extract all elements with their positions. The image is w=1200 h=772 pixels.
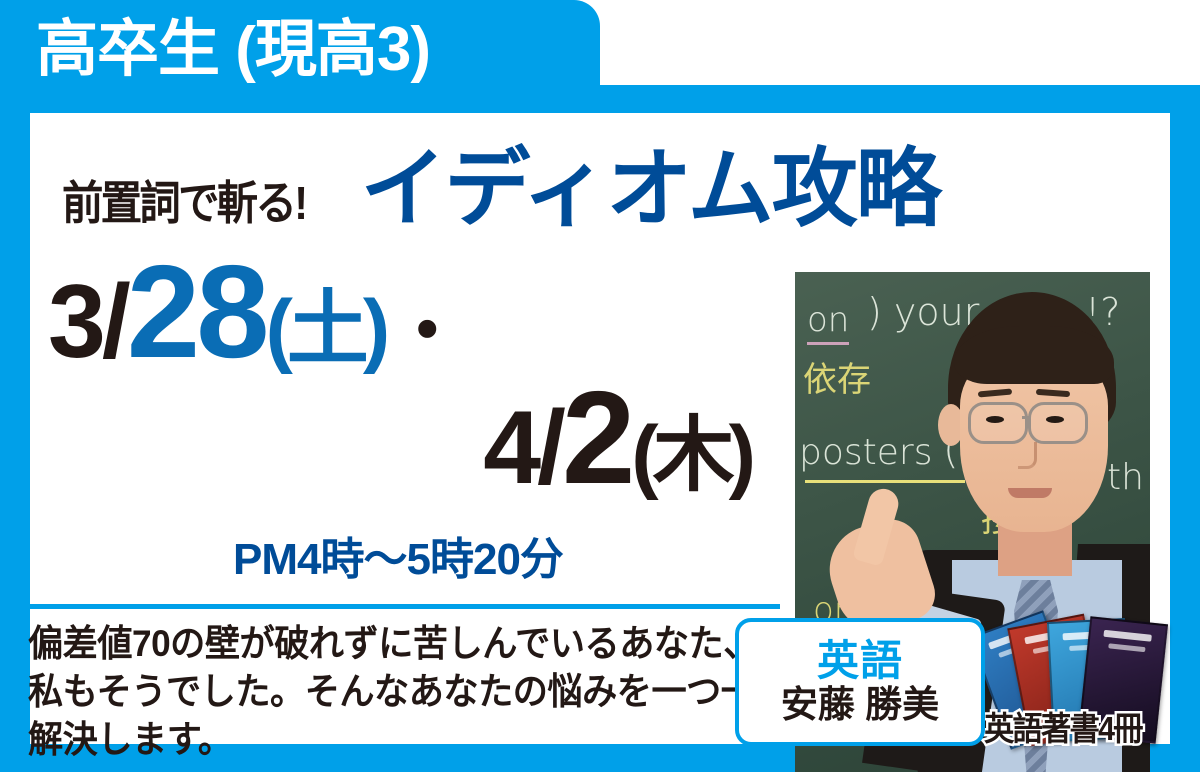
glasses-right-lens xyxy=(1028,402,1088,444)
chalk-text-izon: 依存 xyxy=(803,352,871,401)
date2-day: 2 xyxy=(562,372,631,504)
mouth xyxy=(1008,488,1052,498)
frame-left-border xyxy=(0,85,30,772)
description-line-2: 私もそうでした。そんなあなたの悩みを一つ一つ xyxy=(28,668,710,716)
date1-weekday: (土) xyxy=(266,289,385,371)
description-line-3: 解決します。 xyxy=(28,716,710,764)
date1-day: 28 xyxy=(127,246,266,378)
instructor-name: 安藤 勝美 xyxy=(781,685,939,725)
hair-front xyxy=(954,326,1114,384)
date-line-second: 4/ 2 (木) xyxy=(48,372,768,504)
glasses-left-lens xyxy=(968,402,1028,444)
schedule-dates: 3/ 28 (土) ・ 4/ 2 (木) xyxy=(48,246,768,504)
books-count-badge: 英語著書4冊 xyxy=(984,702,1142,750)
date-line-first: 3/ 28 (土) ・ xyxy=(48,246,768,378)
frame-right-border xyxy=(1170,85,1200,772)
section-divider xyxy=(28,604,780,609)
description-text: 偏差値70の壁が破れずに苦しんでいるあなた、 私もそうでした。そんなあなたの悩み… xyxy=(28,620,746,764)
flyer-root: 高卒生 (現高3) 前置詞で斬る! イディオム攻略 3/ 28 (土) ・ 4/… xyxy=(0,0,1200,772)
books-graphic: 英語著書4冊 xyxy=(988,604,1170,744)
date1-month: 3/ xyxy=(48,270,127,374)
title-main: イディオム攻略 xyxy=(360,146,939,232)
title-subtitle: 前置詞で斬る! xyxy=(62,180,305,232)
glasses-bridge xyxy=(1022,416,1030,419)
nose xyxy=(1018,442,1037,469)
eye-right xyxy=(1046,416,1064,423)
date2-weekday: (木) xyxy=(631,415,750,497)
subject-instructor-box: 英語 安藤 勝美 xyxy=(735,618,985,746)
date2-month: 4/ xyxy=(483,396,562,500)
title-row: 前置詞で斬る! イディオム攻略 xyxy=(62,132,1152,232)
subject-label: 英語 xyxy=(817,639,903,683)
header-tab-label: 高卒生 (現高3) xyxy=(0,19,430,81)
date-separator: ・ xyxy=(390,295,464,369)
header-tab: 高卒生 (現高3) xyxy=(0,0,600,100)
schedule-time: PM4時〜5時20分 xyxy=(48,538,748,582)
description-line-1: 偏差値70の壁が破れずに苦しんでいるあなた、 xyxy=(28,620,710,668)
eye-left xyxy=(986,416,1004,423)
chalk-text-on: on xyxy=(807,300,849,345)
